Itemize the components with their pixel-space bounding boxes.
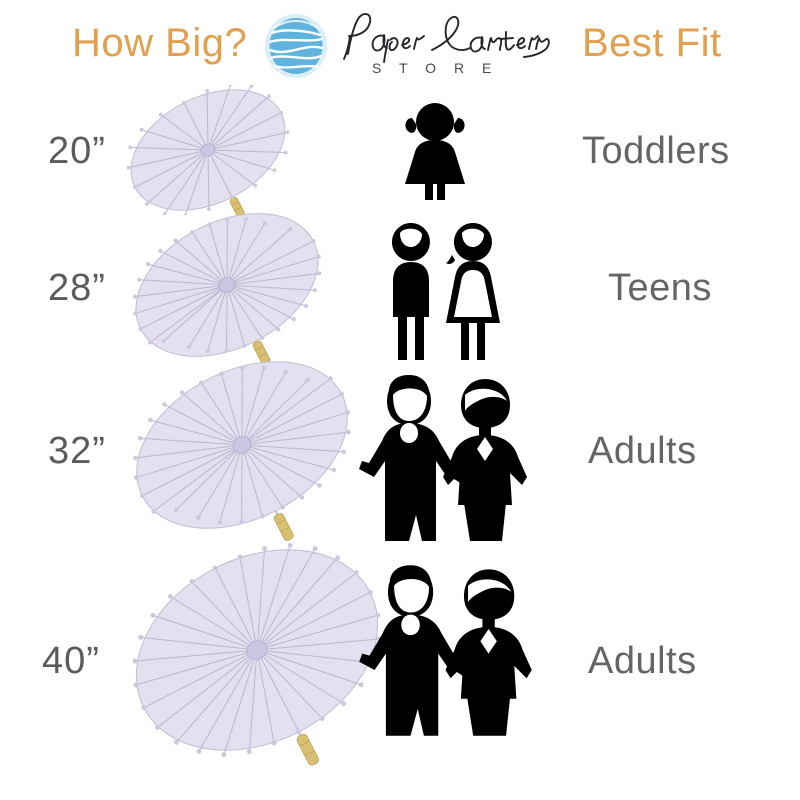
size-row-40: 40” [0, 535, 800, 785]
size-label-20: 20” [48, 130, 106, 173]
size-label-28: 28” [48, 267, 106, 310]
fit-label-teens: Teens [608, 267, 712, 310]
fit-label-toddlers: Toddlers [582, 130, 730, 173]
fit-label-adults-32: Adults [588, 430, 697, 473]
brand-subtitle: S T O R E [372, 60, 498, 76]
parasol-32-inch [112, 350, 372, 555]
header-left-title: How Big? [72, 18, 247, 68]
size-row-20: 20” [0, 85, 800, 210]
paper-lantern-logo-icon [262, 12, 330, 80]
brand-script-name [336, 10, 552, 64]
header-right-title: Best Fit [582, 18, 722, 68]
fit-label-adults-40: Adults [588, 640, 697, 683]
size-label-40: 40” [42, 640, 100, 683]
size-label-32: 32” [48, 430, 106, 473]
brand-logo: S T O R E [262, 8, 552, 88]
teen-couple-pictogram [378, 215, 508, 365]
adult-couple-pictogram [352, 365, 537, 555]
brand-wordmark: S T O R E [336, 10, 552, 86]
toddler-girl-pictogram [395, 100, 475, 205]
parasol-size-guide-infographic: How Big? [0, 0, 800, 800]
header: How Big? [0, 0, 800, 95]
parasol-20-inch [108, 85, 308, 220]
size-row-32: 32” [0, 350, 800, 550]
size-row-28: 28” [0, 205, 800, 365]
parasol-28-inch [112, 205, 342, 370]
adult-couple-pictogram [352, 555, 542, 750]
